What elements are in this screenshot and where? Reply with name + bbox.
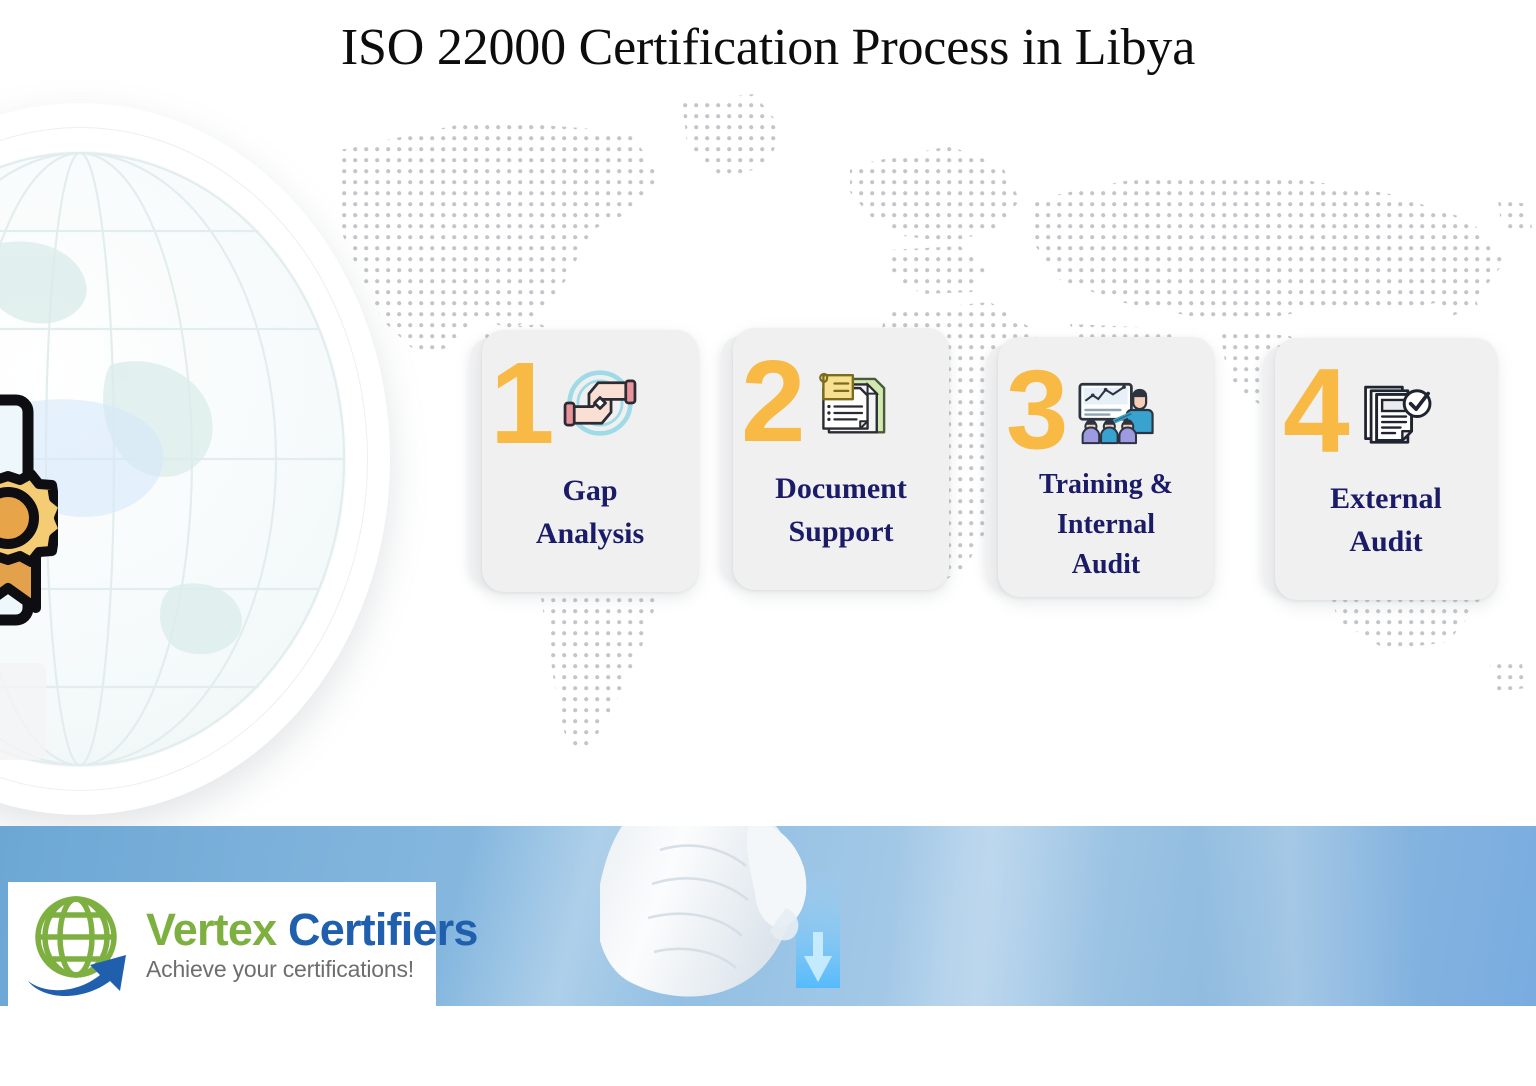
vertex-certifiers-logo[interactable]: Vertex Certifiers Achieve your certifica… bbox=[8, 882, 436, 1008]
step-number: 3 bbox=[1006, 354, 1065, 466]
step-card-header: 4 bbox=[1275, 352, 1497, 470]
step-label-line-1: Gap bbox=[562, 474, 617, 507]
documents-check-icon bbox=[1349, 365, 1441, 457]
step-card-label: Document Support bbox=[733, 468, 949, 554]
logo-word-certifiers: Certifiers bbox=[288, 904, 478, 955]
infographic-canvas: ISO 22000 Certification Process in Libya bbox=[0, 0, 1536, 1086]
step-card-training-internal-audit[interactable]: 3 bbox=[998, 337, 1214, 597]
step-number: 1 bbox=[490, 345, 552, 461]
logo-title: Vertex Certifiers bbox=[146, 904, 478, 955]
gloved-hand-touchscreen-photo bbox=[600, 826, 1070, 1006]
step-label-line-3: Audit bbox=[1072, 549, 1140, 580]
globe-arrow-logo-icon bbox=[22, 889, 140, 1001]
step-number: 4 bbox=[1283, 351, 1347, 471]
step-label-line-2: Analysis bbox=[536, 517, 644, 550]
step-card-gap-analysis[interactable]: 1 Gap bbox=[482, 330, 698, 592]
logo-wordmark: Vertex Certifiers Achieve your certifica… bbox=[146, 907, 478, 983]
step-card-header: 2 bbox=[733, 342, 949, 460]
documents-clipboard-icon bbox=[805, 355, 897, 447]
training-presentation-icon bbox=[1067, 364, 1159, 456]
logo-tagline: Achieve your certifications! bbox=[146, 956, 478, 983]
step-label-line-1: Document bbox=[775, 472, 907, 505]
step-card-label: Training & Internal Audit bbox=[998, 465, 1214, 585]
step-label-line-1: External bbox=[1330, 482, 1442, 515]
step-label-line-2: Audit bbox=[1349, 525, 1422, 558]
step-card-label: External Audit bbox=[1275, 478, 1497, 564]
step-label-line-1: Training & bbox=[1039, 469, 1173, 500]
step-card-external-audit[interactable]: 4 bbox=[1275, 338, 1497, 600]
step-label-line-2: Support bbox=[788, 515, 893, 548]
step-number: 2 bbox=[741, 343, 803, 459]
step-card-header: 3 bbox=[998, 351, 1214, 469]
step-card-header: 1 bbox=[482, 344, 698, 462]
page-title: ISO 22000 Certification Process in Libya bbox=[0, 18, 1536, 77]
step-card-label: Gap Analysis bbox=[482, 470, 698, 556]
logo-word-vertex: Vertex bbox=[146, 904, 276, 955]
step-card-document-support[interactable]: 2 bbox=[733, 328, 949, 590]
step-label-line-2: Internal bbox=[1057, 509, 1155, 540]
handshake-collaboration-icon bbox=[554, 357, 646, 449]
